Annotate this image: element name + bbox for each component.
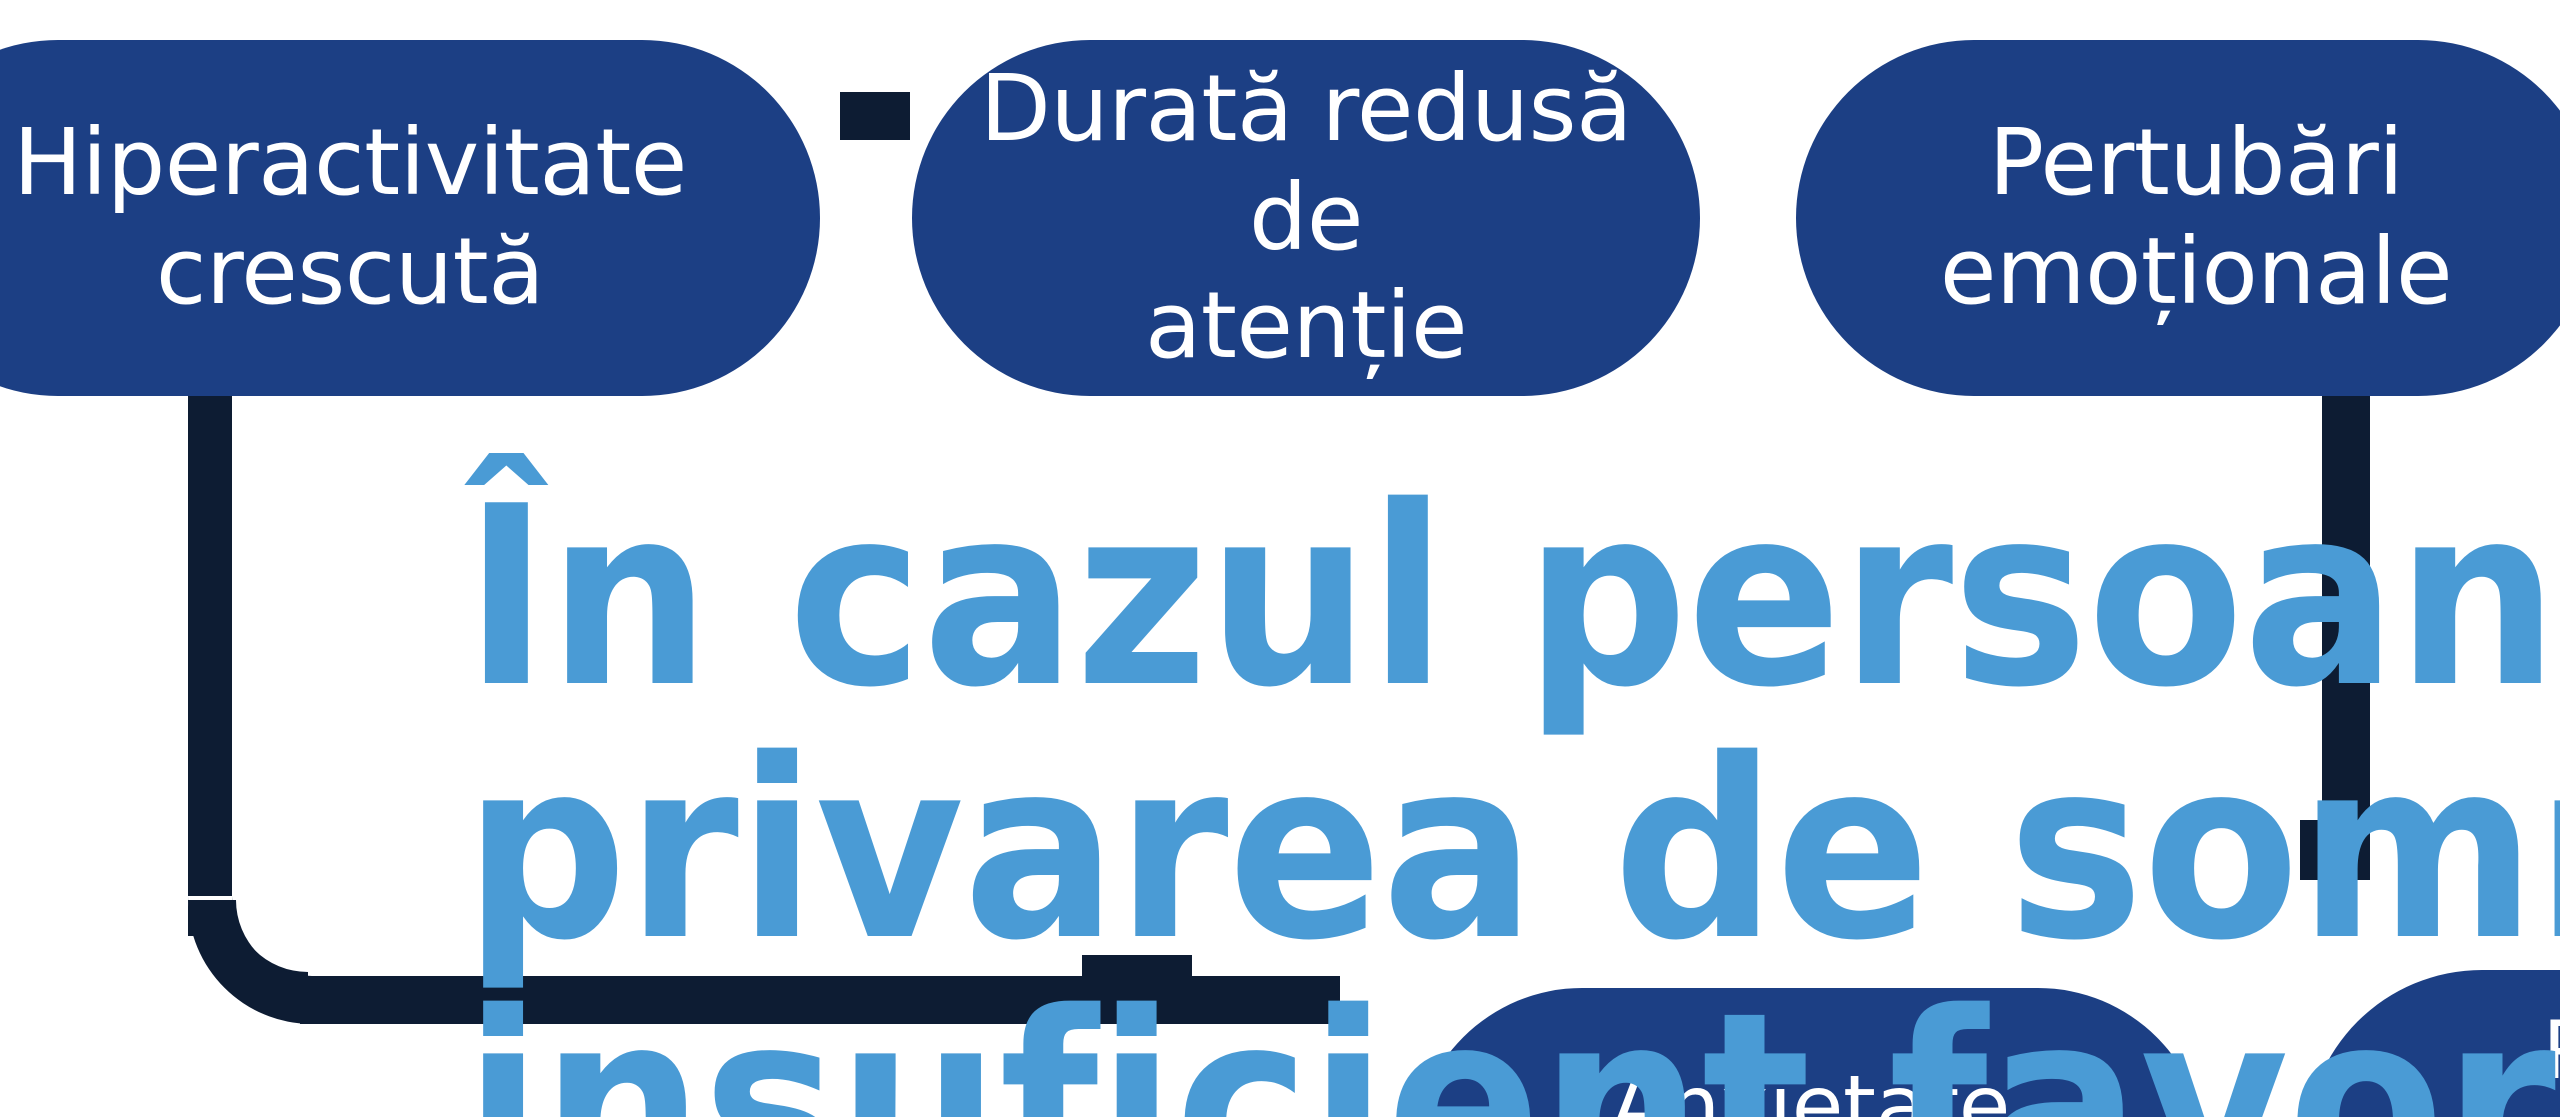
node-durata-redusa-atentie-label: Durată redusă de atenție xyxy=(912,55,1700,381)
headline-line-1: În cazul persoanelor cu autism, xyxy=(464,472,2560,725)
infographic-canvas: Hiperactivitate crescută Durată redusă d… xyxy=(0,0,2560,1117)
node-durata-redusa-atentie[interactable]: Durată redusă de atenție xyxy=(912,40,1700,396)
headline-line-3: insuficient favorizează: xyxy=(464,978,2560,1117)
node-pertubari-emotionale[interactable]: Pertubări emoționale xyxy=(1796,40,2560,396)
node-hiperactivitate[interactable]: Hiperactivitate crescută xyxy=(0,40,820,396)
headline: În cazul persoanelor cu autism, privarea… xyxy=(464,472,2560,1117)
node-pertubari-emotionale-label: Pertubări emoționale xyxy=(1922,109,2470,326)
headline-line-2: privarea de somn sau somnul xyxy=(464,725,2560,978)
node-hiperactivitate-label: Hiperactivitate crescută xyxy=(0,109,705,326)
connector-bottom-left-arc xyxy=(188,900,312,1024)
connector-durata-pertubari xyxy=(840,92,910,140)
